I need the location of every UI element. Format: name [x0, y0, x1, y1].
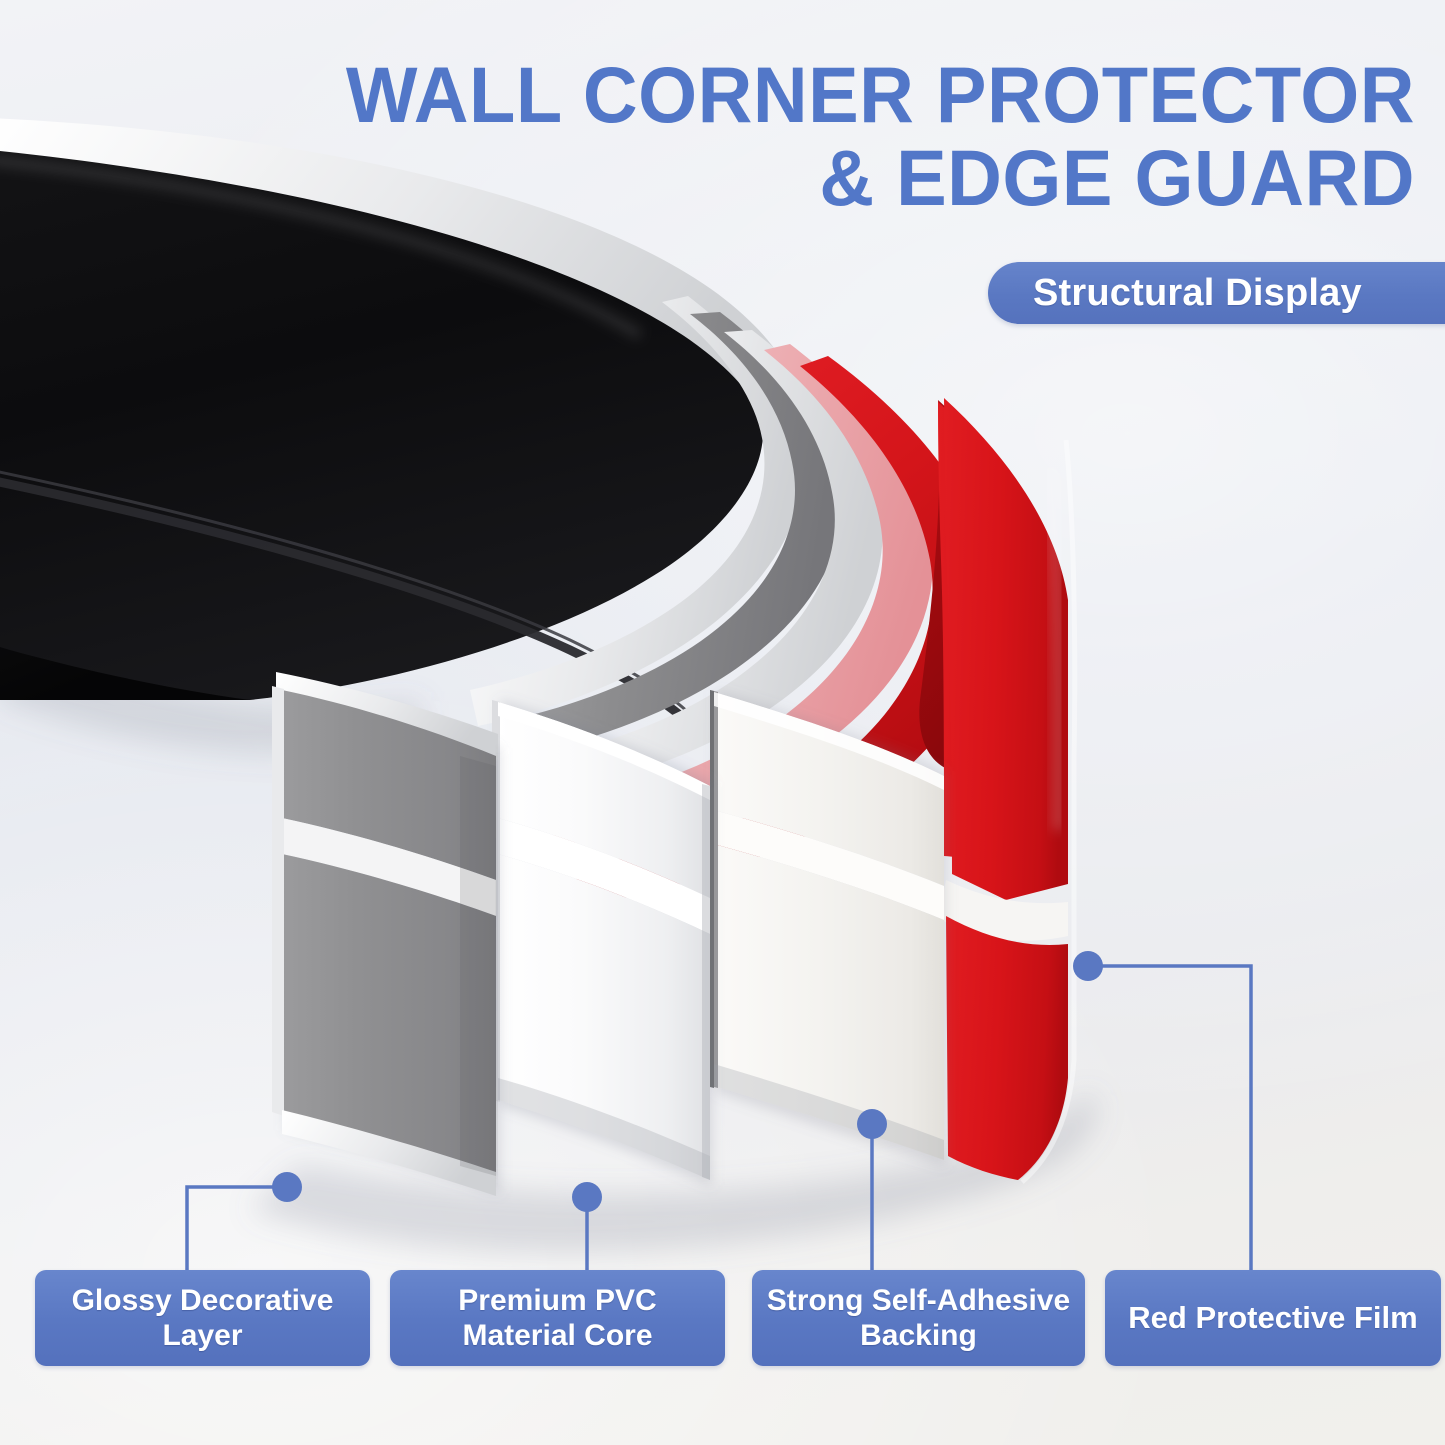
title-line-2: & EDGE GUARD [229, 141, 1415, 214]
callout-label: Premium PVC Material Core [458, 1283, 656, 1354]
callout-red-protective-film: Red Protective Film [1105, 1270, 1441, 1366]
infographic-canvas: WALL CORNER PROTECTOR & EDGE GUARD Struc… [0, 0, 1445, 1445]
leader-dot-glossy-decorative-layer [272, 1172, 302, 1202]
page-title: WALL CORNER PROTECTOR & EDGE GUARD [180, 58, 1415, 215]
title-line-1: WALL CORNER PROTECTOR [229, 58, 1415, 131]
panel-contact-shadow [496, 756, 498, 1176]
callout-label: Strong Self-Adhesive Backing [767, 1283, 1070, 1354]
grey-substrate-layer [272, 672, 500, 1196]
structural-display-badge: Structural Display [988, 262, 1445, 324]
callout-strong-self-adhesive-backing: Strong Self-Adhesive Backing [752, 1270, 1085, 1366]
callout-label: Glossy Decorative Layer [72, 1283, 334, 1354]
premium-pvc-material-core [492, 700, 712, 1186]
badge-label: Structural Display [1033, 272, 1362, 315]
callout-label: Red Protective Film [1128, 1300, 1417, 1337]
callout-glossy-decorative-layer: Glossy Decorative Layer [35, 1270, 370, 1366]
strong-self-adhesive-backing [710, 690, 946, 1166]
leader-dot-strong-self-adhesive-backing [857, 1109, 887, 1139]
leader-dot-premium-pvc-material-core [572, 1182, 602, 1212]
callout-premium-pvc-material-core: Premium PVC Material Core [390, 1270, 725, 1366]
leader-dot-red-protective-film [1073, 951, 1103, 981]
leader-line-red-protective-film [1088, 966, 1251, 1272]
